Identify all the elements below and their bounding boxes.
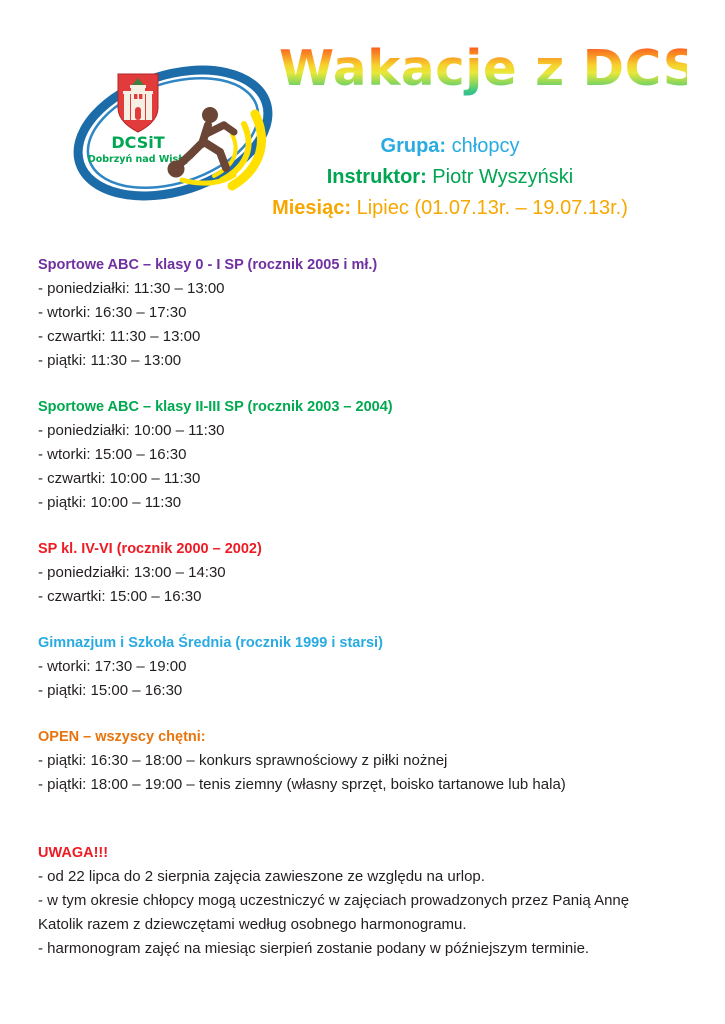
meta-miesiac: Miesiąc: Lipiec (01.07.13r. – 19.07.13r.… (215, 193, 685, 224)
notice-line: Katolik razem z dziewczętami według osob… (38, 913, 688, 937)
title-container: Wakacje z DCSiT (283, 38, 683, 106)
meta-instruktor-value: Piotr Wyszyński (432, 166, 573, 188)
section-heading: Sportowe ABC – klasy 0 - I SP (rocznik 2… (38, 253, 688, 277)
schedule-line: - piątki: 11:30 – 13:00 (38, 349, 688, 373)
page-header: DCSiT Dobrzyń nad Wisłą Wakacje z DCSiT … (0, 0, 725, 243)
meta-grupa: Grupa: chłopcy (215, 131, 685, 162)
meta-miesiac-label: Miesiąc: (272, 197, 351, 219)
schedule-line: - piątki: 16:30 – 18:00 – konkurs sprawn… (38, 749, 688, 773)
schedule-line: - piątki: 15:00 – 16:30 (38, 679, 688, 703)
section-heading: OPEN – wszyscy chętni: (38, 725, 688, 749)
schedule-line: - wtorki: 17:30 – 19:00 (38, 655, 688, 679)
schedule-line: - poniedziałki: 13:00 – 14:30 (38, 561, 688, 585)
meta-grupa-value: chłopcy (452, 135, 520, 157)
meta-grupa-label: Grupa: (381, 135, 447, 157)
coat-of-arms-icon (118, 74, 158, 132)
notice-heading: UWAGA!!! (38, 841, 688, 865)
page-title: Wakacje z DCSiT (279, 38, 687, 100)
schedule-line: - poniedziałki: 11:30 – 13:00 (38, 277, 688, 301)
schedule-section: Sportowe ABC – klasy 0 - I SP (rocznik 2… (38, 253, 688, 373)
schedule-line: - czwartki: 10:00 – 11:30 (38, 467, 688, 491)
schedule-section: Gimnazjum i Szkoła Średnia (rocznik 1999… (38, 631, 688, 703)
schedule-content: Sportowe ABC – klasy 0 - I SP (rocznik 2… (38, 253, 688, 961)
schedule-line: - wtorki: 16:30 – 17:30 (38, 301, 688, 325)
notice-line: - od 22 lipca do 2 sierpnia zajęcia zawi… (38, 865, 688, 889)
schedule-line: - wtorki: 15:00 – 16:30 (38, 443, 688, 467)
schedule-section: Sportowe ABC – klasy II-III SP (rocznik … (38, 395, 688, 515)
schedule-section: SP kl. IV-VI (rocznik 2000 – 2002) - pon… (38, 537, 688, 609)
header-meta: Grupa: chłopcy Instruktor: Piotr Wyszyńs… (215, 131, 685, 224)
meta-instruktor: Instruktor: Piotr Wyszyński (215, 162, 685, 193)
schedule-line: - czwartki: 11:30 – 13:00 (38, 325, 688, 349)
section-heading: SP kl. IV-VI (rocznik 2000 – 2002) (38, 537, 688, 561)
notice-line: - w tym okresie chłopcy mogą uczestniczy… (38, 889, 688, 913)
section-heading: Sportowe ABC – klasy II-III SP (rocznik … (38, 395, 688, 419)
schedule-line: - piątki: 10:00 – 11:30 (38, 491, 688, 515)
schedule-line: - czwartki: 15:00 – 16:30 (38, 585, 688, 609)
notice-line: - harmonogram zajęć na miesiąc sierpień … (38, 937, 688, 961)
meta-miesiac-value: Lipiec (01.07.13r. – 19.07.13r.) (357, 197, 628, 219)
schedule-line: - poniedziałki: 10:00 – 11:30 (38, 419, 688, 443)
section-heading: Gimnazjum i Szkoła Średnia (rocznik 1999… (38, 631, 688, 655)
logo-acronym: DCSiT (111, 133, 164, 152)
schedule-line: - piątki: 18:00 – 19:00 – tenis ziemny (… (38, 773, 688, 797)
schedule-section-open: OPEN – wszyscy chętni: - piątki: 16:30 –… (38, 725, 688, 797)
meta-instruktor-label: Instruktor: (327, 166, 427, 188)
notice-section: UWAGA!!! - od 22 lipca do 2 sierpnia zaj… (38, 841, 688, 961)
